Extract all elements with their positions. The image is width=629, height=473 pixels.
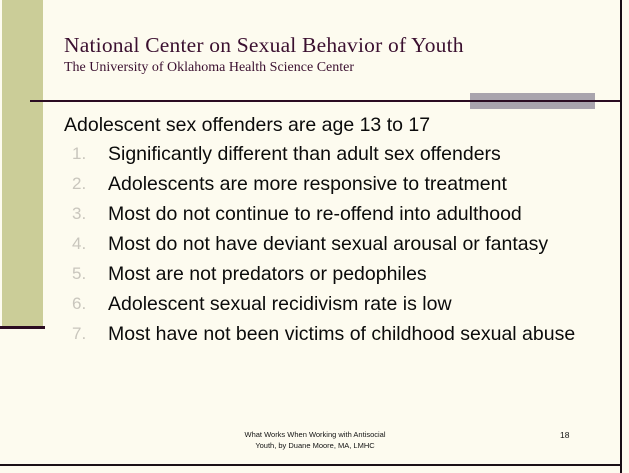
list-item: 2.Adolescents are more responsive to tre… <box>64 169 609 199</box>
body-lead-line: Adolescent sex offenders are age 13 to 1… <box>64 111 609 139</box>
presentation-slide: National Center on Sexual Behavior of Yo… <box>0 0 629 473</box>
list-item: 4.Most do not have deviant sexual arousa… <box>64 229 609 259</box>
slide-subtitle: The University of Oklahoma Health Scienc… <box>64 59 604 77</box>
list-item-number: 2. <box>72 169 98 199</box>
list-item-label: Adolescent sexual recidivism rate is low <box>108 293 452 315</box>
list-item-label: Most have not been victims of childhood … <box>108 323 575 345</box>
list-item: 3.Most do not continue to re-offend into… <box>64 199 609 229</box>
list-item-label: Significantly different than adult sex o… <box>108 143 501 165</box>
footer-attribution: What Works When Working with Antisocial … <box>150 430 480 451</box>
slide-page-number: 18 <box>560 430 590 440</box>
left-olive-accent-bar <box>2 0 43 326</box>
list-item-label: Most are not predators or pedophiles <box>108 263 427 285</box>
footer-attribution-line-1: What Works When Working with Antisocial <box>150 430 480 441</box>
list-item-label: Adolescents are more responsive to treat… <box>108 173 507 195</box>
slide-body: Adolescent sex offenders are age 13 to 1… <box>64 111 609 349</box>
list-item-number: 4. <box>72 229 98 259</box>
slide-header: National Center on Sexual Behavior of Yo… <box>64 33 604 77</box>
slide-border-bottom <box>0 464 621 466</box>
list-item: 7.Most have not been victims of childhoo… <box>64 319 609 349</box>
list-item-number: 3. <box>72 199 98 229</box>
slide-title: National Center on Sexual Behavior of Yo… <box>64 33 604 58</box>
list-item-label: Most do not continue to re-offend into a… <box>108 203 522 225</box>
list-item-label: Most do not have deviant sexual arousal … <box>108 233 548 255</box>
left-accent-bar-underline <box>0 326 45 329</box>
numbered-bullet-list: 1.Significantly different than adult sex… <box>64 139 609 349</box>
header-divider-rule <box>30 100 620 102</box>
footer-attribution-line-2: Youth, by Duane Moore, MA, LMHC <box>150 441 480 452</box>
list-item: 1.Significantly different than adult sex… <box>64 139 609 169</box>
list-item: 6.Adolescent sexual recidivism rate is l… <box>64 289 609 319</box>
list-item: 5.Most are not predators or pedophiles <box>64 259 609 289</box>
list-item-number: 1. <box>72 139 98 169</box>
list-item-number: 5. <box>72 259 98 289</box>
list-item-number: 7. <box>72 319 98 349</box>
list-item-number: 6. <box>72 289 98 319</box>
slide-border-right <box>620 0 622 473</box>
